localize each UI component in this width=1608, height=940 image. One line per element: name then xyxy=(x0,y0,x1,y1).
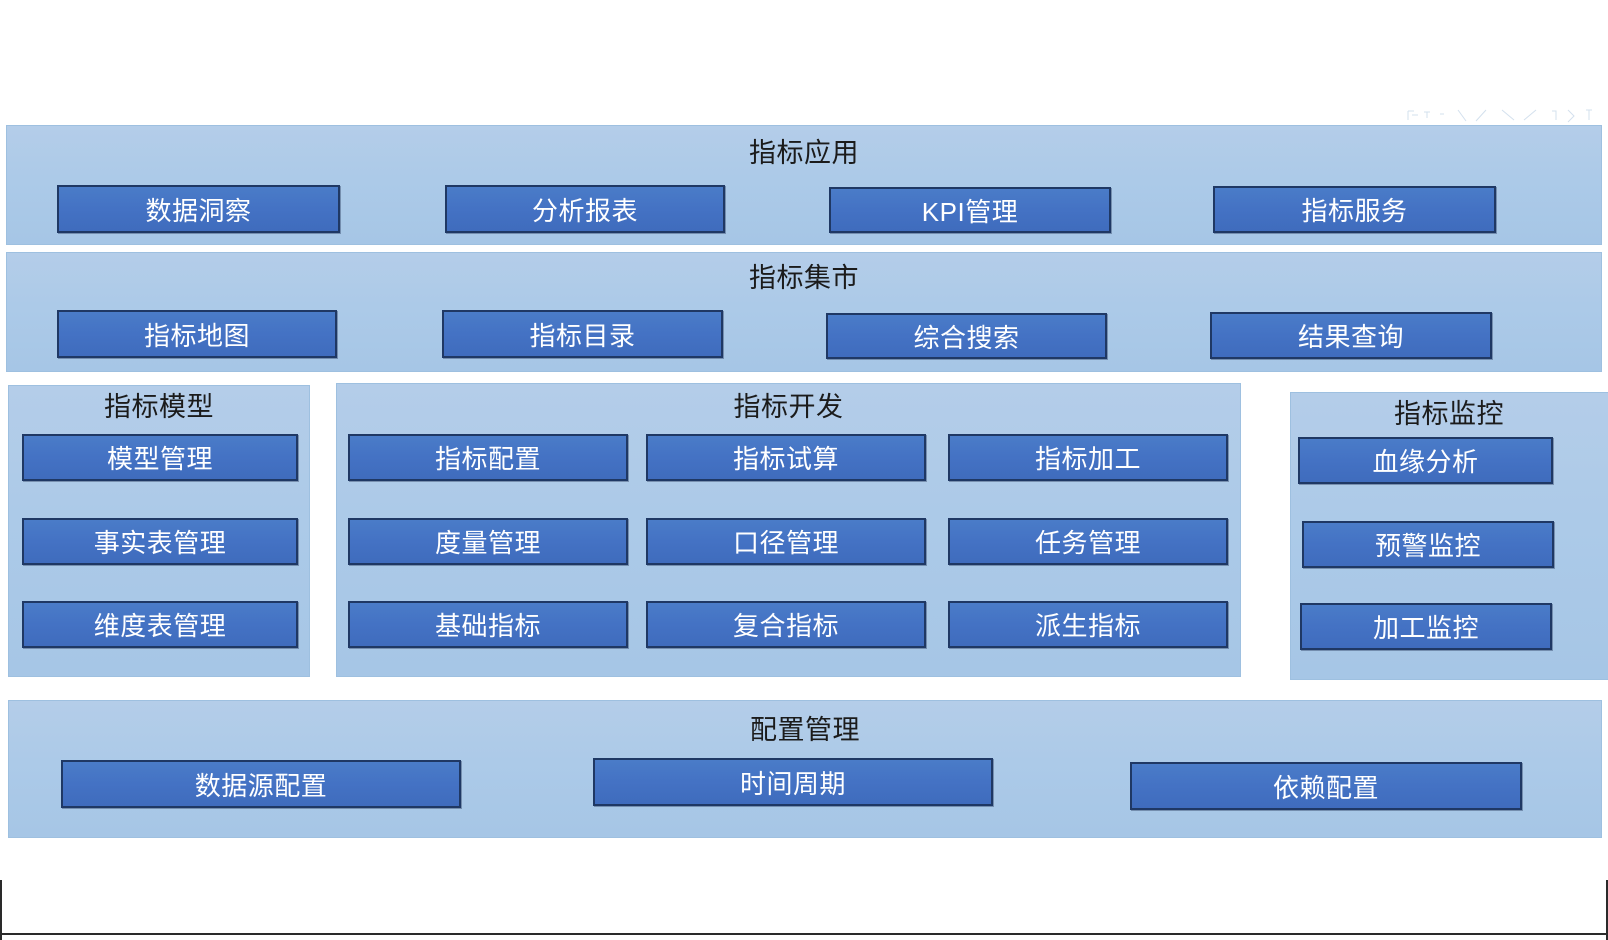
layer-title-indicator-marketplace: 指标集市 xyxy=(7,265,1601,292)
box-indicator-processing[interactable]: 指标加工 xyxy=(948,434,1228,481)
box-data-source-configuration[interactable]: 数据源配置 xyxy=(61,760,461,808)
box-time-period[interactable]: 时间周期 xyxy=(593,758,993,806)
box-alert-monitoring[interactable]: 预警监控 xyxy=(1302,521,1554,568)
box-derived-indicator[interactable]: 派生指标 xyxy=(948,601,1228,648)
box-data-insight[interactable]: 数据洞察 xyxy=(57,185,340,233)
box-basic-indicator[interactable]: 基础指标 xyxy=(348,601,628,648)
layer-title-configuration-management: 配置管理 xyxy=(9,717,1601,744)
box-indicator-configuration[interactable]: 指标配置 xyxy=(348,434,628,481)
box-task-management[interactable]: 任务管理 xyxy=(948,518,1228,565)
layer-title-indicator-development: 指标开发 xyxy=(337,394,1240,421)
box-dimension-table-management[interactable]: 维度表管理 xyxy=(22,601,298,648)
box-dependency-configuration[interactable]: 依赖配置 xyxy=(1130,762,1522,810)
box-fact-table-management[interactable]: 事实表管理 xyxy=(22,518,298,565)
box-processing-monitoring[interactable]: 加工监控 xyxy=(1300,603,1552,650)
box-model-management[interactable]: 模型管理 xyxy=(22,434,298,481)
box-lineage-analysis[interactable]: 血缘分析 xyxy=(1298,437,1553,484)
layer-title-indicator-model: 指标模型 xyxy=(9,394,309,421)
box-indicator-service[interactable]: 指标服务 xyxy=(1213,186,1496,233)
box-comprehensive-search[interactable]: 综合搜索 xyxy=(826,313,1107,359)
box-indicator-trial-calculation[interactable]: 指标试算 xyxy=(646,434,926,481)
layer-title-indicator-application: 指标应用 xyxy=(7,140,1601,167)
box-indicator-catalog[interactable]: 指标目录 xyxy=(442,310,723,358)
box-result-query[interactable]: 结果查询 xyxy=(1210,312,1492,359)
page-left-rule xyxy=(0,880,2,940)
box-measure-management[interactable]: 度量管理 xyxy=(348,518,628,565)
box-indicator-map[interactable]: 指标地图 xyxy=(57,310,337,358)
page-bottom-rule xyxy=(0,933,1608,935)
box-analysis-report[interactable]: 分析报表 xyxy=(445,185,725,233)
box-composite-indicator[interactable]: 复合指标 xyxy=(646,601,926,648)
box-kpi-management[interactable]: KPI管理 xyxy=(829,187,1111,233)
box-caliber-management[interactable]: 口径管理 xyxy=(646,518,926,565)
architecture-diagram: 指标应用 数据洞察 分析报表 KPI管理 指标服务 指标集市 指标地图 指标目录… xyxy=(0,0,1608,940)
layer-title-indicator-monitoring: 指标监控 xyxy=(1291,401,1607,428)
